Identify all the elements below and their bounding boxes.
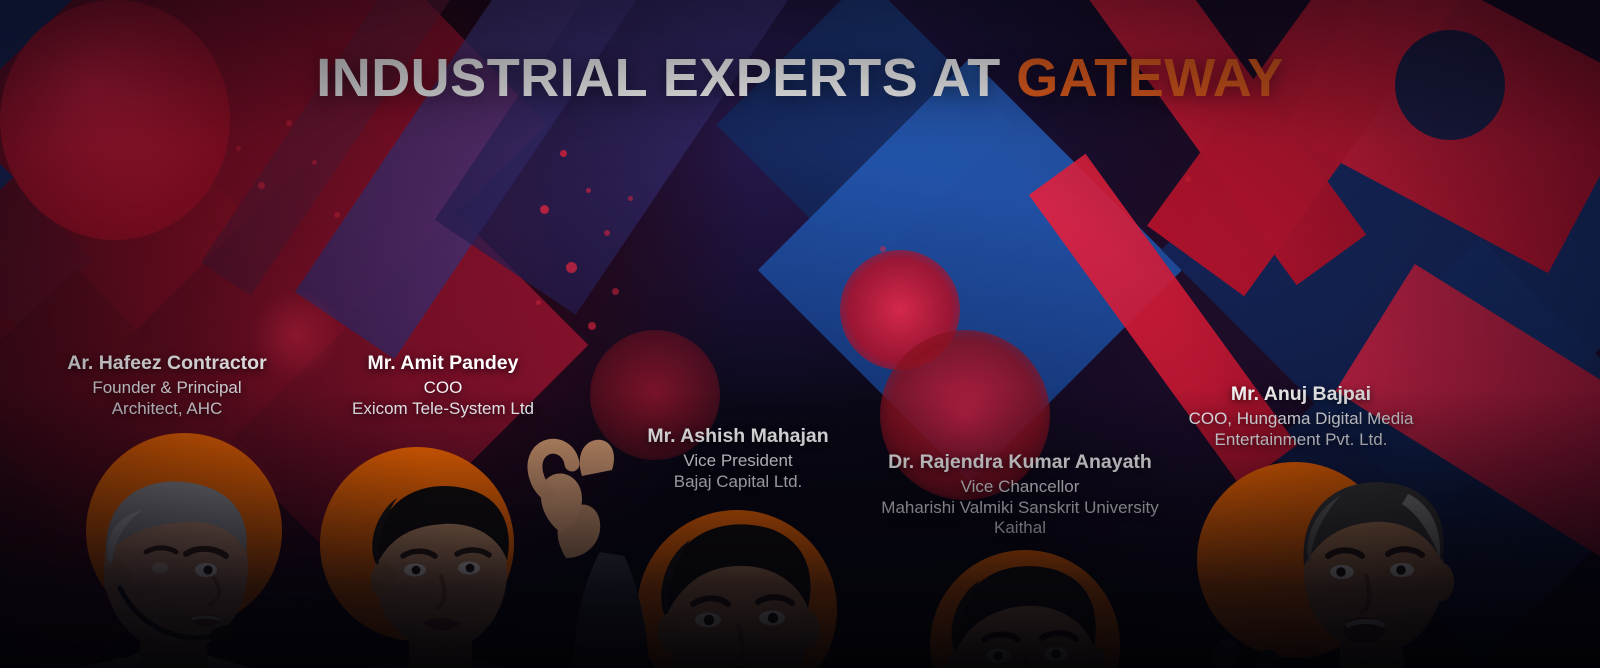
speaker-caption: Mr. Anuj Bajpai COO, Hungama Digital Med…	[1148, 383, 1454, 450]
speaker-role-line-1: Founder & Principal	[24, 378, 310, 399]
speaker-caption: Mr. Ashish Mahajan Vice President Bajaj …	[618, 425, 858, 492]
page-title: INDUSTRIAL EXPERTS AT GATEWAY	[0, 47, 1600, 109]
speaker-role-line-2: Architect, AHC	[24, 399, 310, 420]
speaker-name: Ar. Hafeez Contractor	[24, 352, 310, 376]
speaker-role-line-2: Entertainment Pvt. Ltd.	[1148, 430, 1454, 451]
speaker-caption: Ar. Hafeez Contractor Founder & Principa…	[24, 352, 310, 419]
speaker-photo	[1130, 450, 1600, 668]
speaker-name: Mr. Anuj Bajpai	[1148, 383, 1454, 407]
bg-red-blob-center-right	[0, 0, 230, 240]
speaker-role-line-1: COO, Hungama Digital Media	[1148, 409, 1454, 430]
speaker-name: Mr. Amit Pandey	[318, 352, 568, 376]
speaker-caption: Mr. Amit Pandey COO Exicom Tele-System L…	[318, 352, 568, 419]
title-main-text: INDUSTRIAL EXPERTS AT	[316, 48, 1016, 108]
speaker-role-line-1: COO	[318, 378, 568, 399]
speaker-name: Mr. Ashish Mahajan	[618, 425, 858, 449]
title-accent-text: GATEWAY	[1016, 48, 1284, 108]
speaker-role-line-2: Exicom Tele-System Ltd	[318, 399, 568, 420]
event-speakers-banner: Ar. Hafeez Contractor Founder & Principa…	[0, 0, 1600, 668]
speaker-role-line-1: Vice President	[618, 451, 858, 472]
speaker-role-line-2: Bajaj Capital Ltd.	[618, 472, 858, 493]
